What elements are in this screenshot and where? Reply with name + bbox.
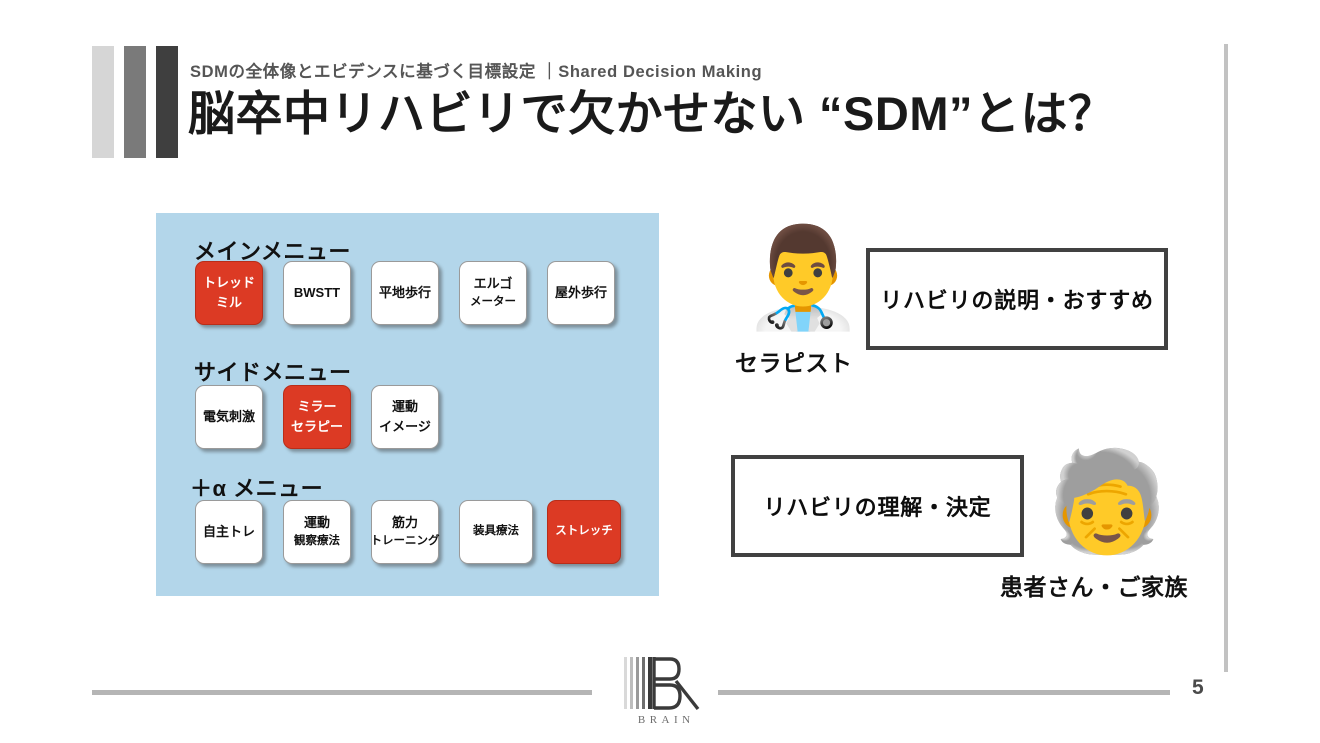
menu-button-electrical-stimulation[interactable]: 電気刺激 xyxy=(195,385,263,449)
menu-button-line: ミル xyxy=(216,293,242,313)
page-title: 脳卒中リハビリで欠かせない “SDM”とは？ xyxy=(188,88,1116,141)
health-worker-emoji: 👨‍⚕️ xyxy=(742,228,864,326)
menu-button-line: ストレッチ xyxy=(555,523,613,541)
patient-message-box: リハビリの理解・決定 xyxy=(731,455,1024,557)
patient-message-text: リハビリの理解・決定 xyxy=(763,490,991,522)
menu-button-line: 観察療法 xyxy=(294,533,340,551)
menu-button-orthotic-therapy[interactable]: 装具療法 xyxy=(459,500,533,564)
brand-logo-mark xyxy=(618,655,710,711)
group-label-plus-alpha-menu: ＋α メニュー xyxy=(190,471,323,503)
menu-button-line: 装具療法 xyxy=(473,523,519,541)
therapist-label: セラピスト xyxy=(735,344,853,378)
menu-button-stretch[interactable]: ストレッチ xyxy=(547,500,621,564)
group-label-side-menu: サイドメニュー xyxy=(194,355,352,387)
slide-subtitle: SDMの全体像とエビデンスに基づく目標設定 ｜Shared Decision M… xyxy=(190,58,762,82)
menu-button-line: トレーニング xyxy=(371,533,440,551)
menu-button-line: セラピー xyxy=(291,417,343,437)
menu-button-self-training[interactable]: 自主トレ xyxy=(195,500,263,564)
accent-bar-light xyxy=(92,46,114,158)
menu-button-line: 電気刺激 xyxy=(203,407,255,427)
menu-button-outdoor-walking[interactable]: 屋外歩行 xyxy=(547,261,615,325)
menu-button-line: BWSTT xyxy=(294,283,340,303)
header-accent-bars xyxy=(92,46,188,158)
rehab-menu-panel: メインメニュー トレッド ミル BWSTT 平地歩行 エルゴ メーター 屋外歩行… xyxy=(156,213,659,596)
menu-button-mirror-therapy[interactable]: ミラー セラピー xyxy=(283,385,351,449)
footer-rule-left xyxy=(92,690,592,695)
menu-button-motor-imagery[interactable]: 運動 イメージ xyxy=(371,385,439,449)
footer-rule-right xyxy=(718,690,1170,695)
older-person-emoji: 🧓 xyxy=(1046,452,1168,550)
menu-button-line: メーター xyxy=(470,294,516,312)
therapist-message-text: リハビリの説明・おすすめ xyxy=(880,283,1154,315)
menu-button-line: イメージ xyxy=(379,417,431,437)
slide-canvas: SDMの全体像とエビデンスに基づく目標設定 ｜Shared Decision M… xyxy=(0,0,1320,743)
therapist-message-box: リハビリの説明・おすすめ xyxy=(866,248,1168,350)
menu-button-line: 屋外歩行 xyxy=(555,283,607,303)
menu-button-line: 運動 xyxy=(304,513,330,533)
menu-button-line: 運動 xyxy=(392,397,418,417)
patient-label: 患者さん・ご家族 xyxy=(1000,568,1188,602)
menu-button-strength-training[interactable]: 筋力 トレーニング xyxy=(371,500,439,564)
menu-button-level-walking[interactable]: 平地歩行 xyxy=(371,261,439,325)
menu-button-line: ミラー xyxy=(297,397,336,417)
menu-button-ergometer[interactable]: エルゴ メーター xyxy=(459,261,527,325)
accent-bar-dark xyxy=(156,46,178,158)
menu-button-bwstt[interactable]: BWSTT xyxy=(283,261,351,325)
menu-button-line: 筋力 xyxy=(392,513,418,533)
page-number: 5 xyxy=(1192,676,1204,700)
brand-logo-text: BRAIN xyxy=(633,714,694,726)
menu-button-line: トレッド xyxy=(203,273,255,293)
menu-button-action-observation[interactable]: 運動 観察療法 xyxy=(283,500,351,564)
menu-button-line: 平地歩行 xyxy=(379,283,431,303)
menu-button-line: エルゴ xyxy=(474,274,513,294)
menu-button-line: 自主トレ xyxy=(203,522,255,542)
brand-logo: BRAIN xyxy=(616,655,712,737)
right-vertical-rule xyxy=(1224,44,1228,672)
menu-button-treadmill[interactable]: トレッド ミル xyxy=(195,261,263,325)
accent-bar-mid xyxy=(124,46,146,158)
